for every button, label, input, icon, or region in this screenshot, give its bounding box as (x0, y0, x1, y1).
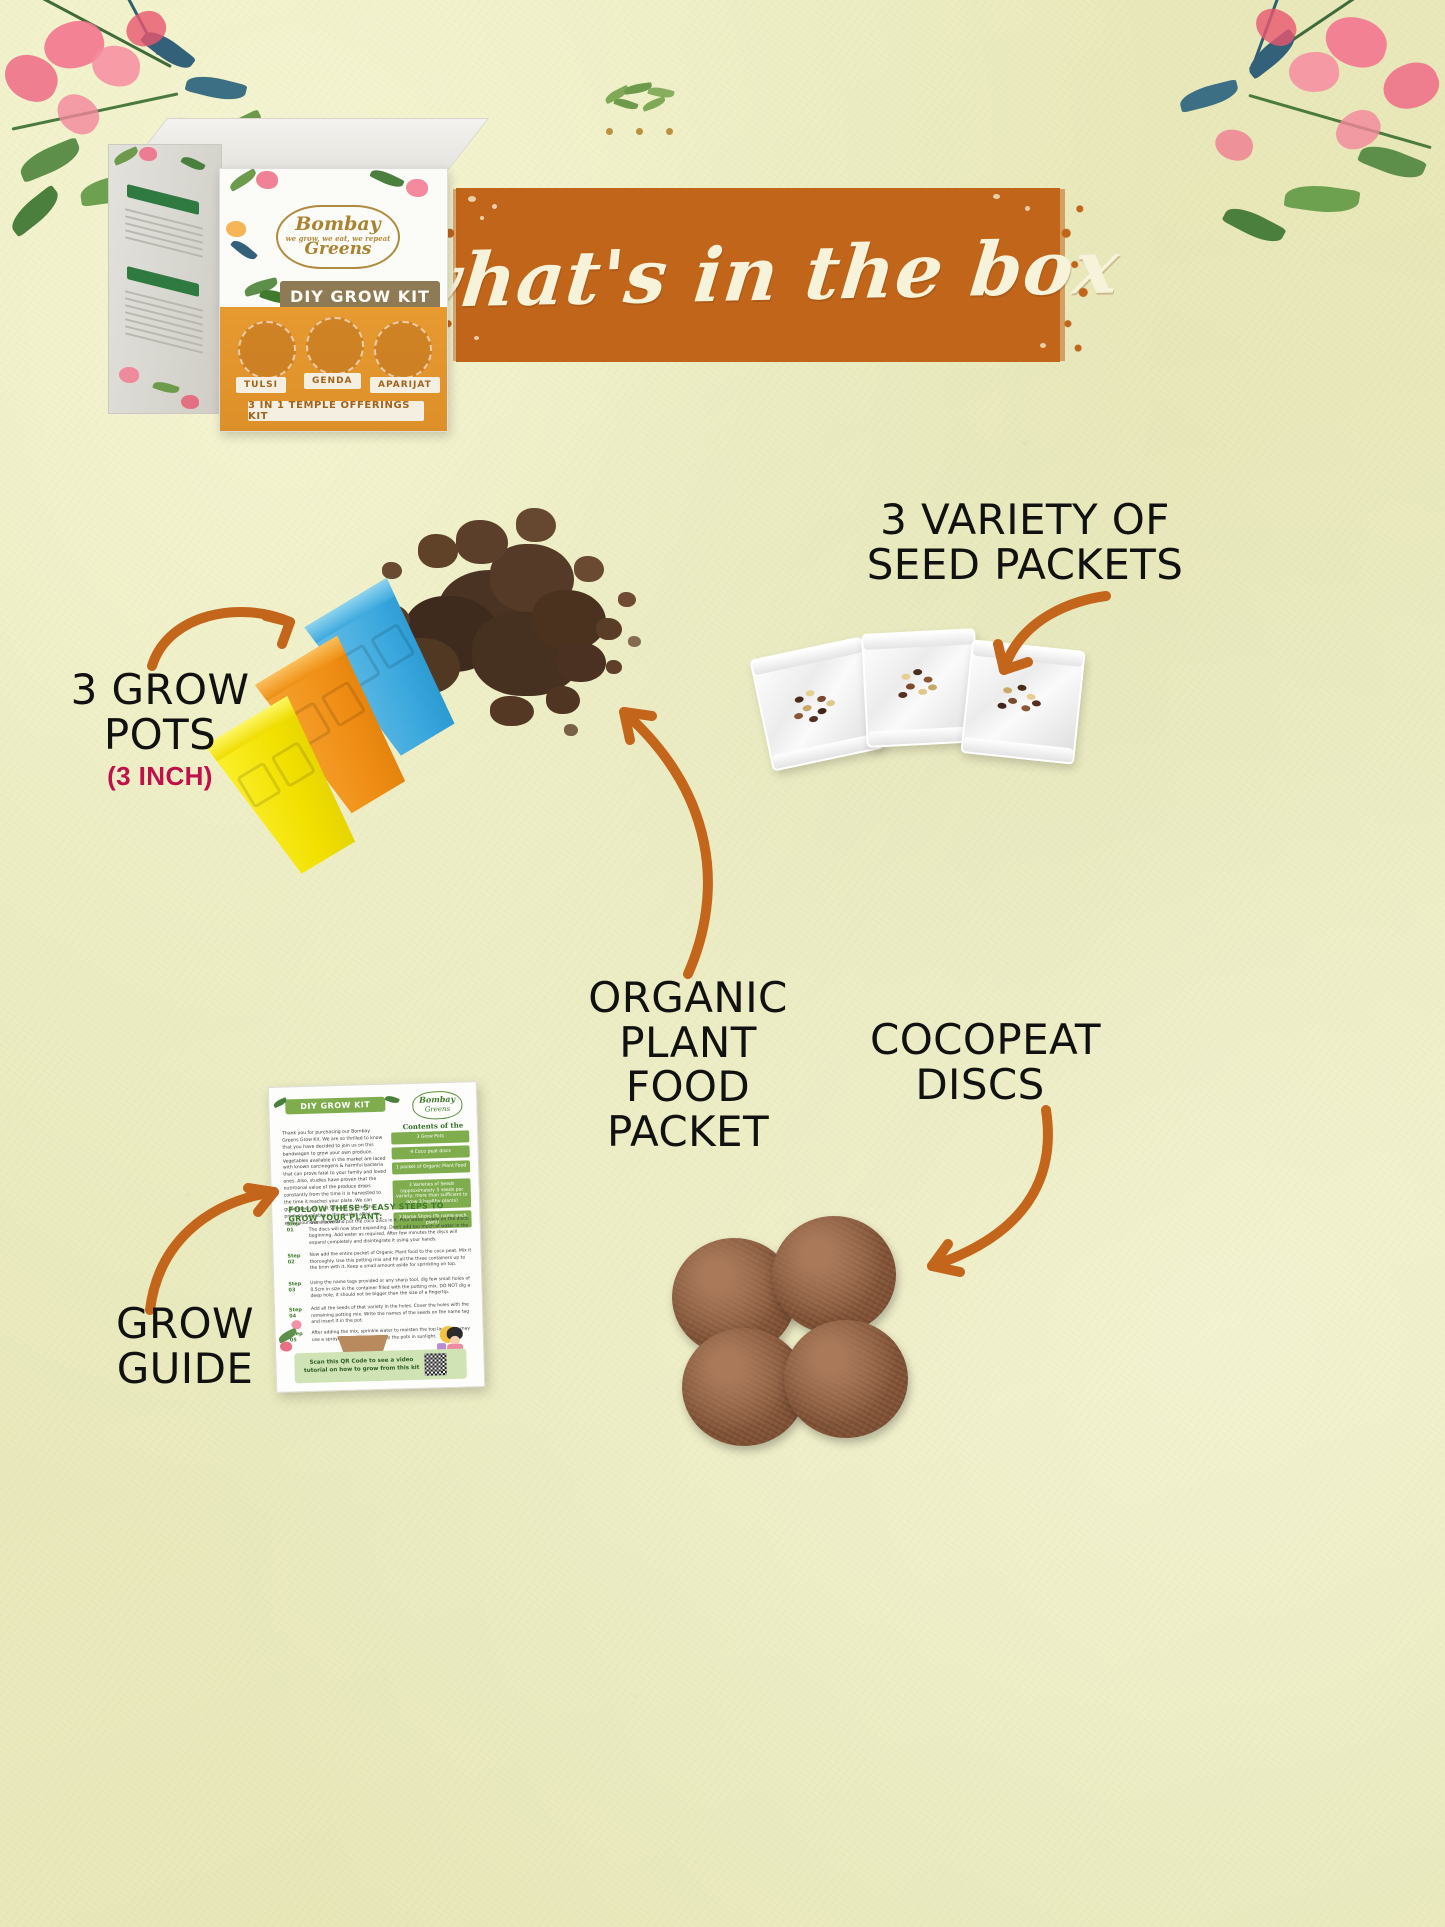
cocopeat-disc (784, 1320, 908, 1438)
tulsi-icon (238, 321, 296, 379)
seed-variety-label: APARIJAT (370, 377, 440, 393)
genda-icon (306, 317, 364, 375)
diy-grow-kit-label: DIY GROW KIT (290, 287, 430, 306)
foliage-top-right (1085, 0, 1445, 330)
arrow-to-cocopeat-discs (898, 1106, 1058, 1296)
arrow-to-plant-food (596, 684, 736, 984)
callout-line2: SEED PACKETS (867, 540, 1184, 589)
callout-line1: GROW (116, 1299, 254, 1348)
temple-offerings-label: 3 IN 1 TEMPLE OFFERINGS KIT (248, 400, 424, 422)
temple-offerings-strip: 3 IN 1 TEMPLE OFFERINGS KIT (248, 401, 424, 421)
guide-title-ribbon: DIY GROW KIT (285, 1097, 385, 1115)
callout-sublabel: (3 INCH) (50, 763, 270, 791)
guide-content-item: 3 Grow Pots (391, 1130, 469, 1144)
grow-guide-card: DIY GROW KIT Bombay Greens Contents of t… (268, 1081, 485, 1393)
arrow-to-seed-packets (978, 592, 1118, 692)
seed-variety-label: TULSI (236, 377, 286, 393)
callout-line1: COCOPEAT (870, 1015, 1101, 1064)
guide-step: Step 04 Add all the seeds of that variet… (289, 1302, 475, 1307)
banner-title: what's in the box (393, 224, 1124, 325)
dot-separator (606, 128, 680, 138)
guide-step-text: Using the name tags provided or any shar… (310, 1276, 472, 1300)
guide-brand-line1: Bombay (413, 1094, 461, 1105)
callout-line2: DISCS (915, 1060, 1044, 1109)
guide-step-number: Step 04 (289, 1307, 307, 1320)
guide-step-number: Step 02 (287, 1253, 305, 1266)
cocopeat-disc (772, 1216, 896, 1334)
guide-brand-logo: Bombay Greens (412, 1091, 463, 1120)
callout-line1: ORGANIC PLANT (588, 973, 787, 1067)
banner: what's in the box (456, 188, 1060, 362)
callout-line1: 3 GROW (71, 665, 250, 714)
guide-step-number: Step 01 (287, 1221, 305, 1234)
callout-line1: 3 VARIETY OF (880, 495, 1170, 544)
callout-cocopeat: COCOPEAT DISCS (870, 1018, 1090, 1107)
cocopeat-discs-image (672, 1216, 922, 1446)
brand-name: Bombay (278, 213, 398, 235)
qr-instruction-text: Scan this QR Code to see a video tutoria… (300, 1357, 422, 1375)
brand-frame: Bombay we grow, we eat, we repeat Greens (276, 205, 400, 269)
product-box-image: Bombay we grow, we eat, we repeat Greens… (108, 118, 458, 438)
callout-plant-food: ORGANIC PLANT FOOD PACKET (538, 976, 838, 1154)
seed-variety-label: GENDA (304, 373, 361, 389)
callout-grow-pots: 3 GROW POTS (3 INCH) (50, 668, 270, 791)
guide-content-item: 1 packet of Organic Plant Food (392, 1160, 470, 1174)
guide-step: Step 02 Now add the entire packet of Org… (287, 1248, 473, 1253)
arrow-to-pots (148, 596, 308, 676)
callout-line2: GUIDE (117, 1344, 254, 1393)
callout-seed-packets: 3 VARIETY OF SEED PACKETS (855, 498, 1195, 587)
brand-name-secondary: Greens (278, 239, 398, 259)
guide-step-text: Now add the entire packet of Organic Pla… (309, 1248, 471, 1272)
callout-line2: FOOD PACKET (607, 1062, 769, 1156)
box-front-face: Bombay we grow, we eat, we repeat Greens… (219, 168, 448, 432)
qr-code-bar: Scan this QR Code to see a video tutoria… (294, 1349, 467, 1384)
box-left-face (108, 144, 222, 414)
guide-step-text: Add all the seeds of that variety in the… (311, 1302, 473, 1326)
guide-content-item: 4 Coco peat discs (392, 1145, 470, 1159)
guide-step-text: Take a bowl and put the coco discs in it… (309, 1216, 472, 1247)
guide-brand-line2: Greens (413, 1105, 461, 1114)
sprig-decoration (598, 82, 688, 134)
guide-step-number: Step 03 (288, 1281, 306, 1294)
guide-title: DIY GROW KIT (300, 1100, 370, 1111)
arrow-to-grow-guide (144, 1186, 284, 1316)
callout-line2: POTS (104, 710, 216, 759)
aparijat-icon (374, 321, 432, 379)
box-orange-panel: TULSI GENDA APARIJAT 3 IN 1 TEMPLE OFFER… (220, 307, 447, 431)
qr-code-icon (424, 1353, 447, 1376)
guide-step: Step 03 Using the name tags provided or … (288, 1276, 474, 1281)
callout-grow-guide: GROW GUIDE (95, 1302, 275, 1391)
